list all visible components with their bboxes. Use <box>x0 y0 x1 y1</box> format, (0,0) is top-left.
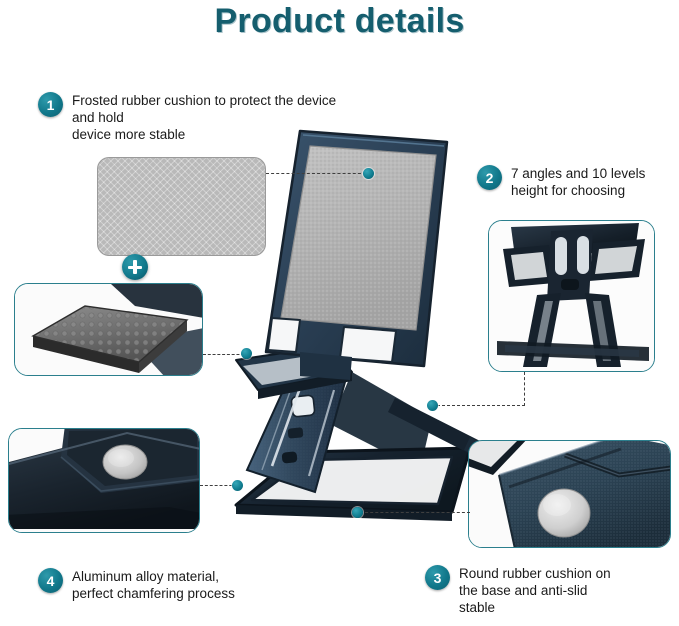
callout-3-text: Round rubber cushion on the base and ant… <box>459 565 611 616</box>
callout-4-badge: 4 <box>38 568 63 593</box>
anchor-dot-base-right <box>352 507 363 518</box>
anchor-dot-cushion-panel <box>363 168 374 179</box>
inset-frosted-texture-swatch <box>97 157 266 256</box>
connector-hinge-horizontal <box>432 405 525 406</box>
connector-texture-to-product <box>266 173 366 174</box>
callout-2: 2 7 angles and 10 levels height for choo… <box>477 165 662 199</box>
infographic-canvas: Product details <box>0 0 679 626</box>
inset-rubber-cushion-pad <box>14 283 203 376</box>
callout-3: 3 Round rubber cushion on the base and a… <box>425 565 640 616</box>
anchor-dot-base-left <box>232 480 243 491</box>
inset-base-round-cushion-closeup <box>468 440 671 548</box>
connector-base-right <box>360 512 470 513</box>
callout-3-badge: 3 <box>425 565 450 590</box>
callout-2-badge: 2 <box>477 165 502 190</box>
connector-hinge-vertical <box>524 372 525 406</box>
inset-base-chamfer-closeup <box>8 428 200 533</box>
callout-2-text: 7 angles and 10 levels height for choosi… <box>511 165 645 199</box>
anchor-dot-tray-lip <box>241 348 252 359</box>
callout-4: 4 Aluminum alloy material, perfect chamf… <box>38 568 288 602</box>
plus-icon <box>122 254 148 280</box>
callout-1: 1 Frosted rubber cushion to protect the … <box>38 92 358 143</box>
callout-1-text: Frosted rubber cushion to protect the de… <box>72 92 358 143</box>
callout-1-badge: 1 <box>38 92 63 117</box>
anchor-dot-hinge <box>427 400 438 411</box>
callout-4-text: Aluminum alloy material, perfect chamfer… <box>72 568 235 602</box>
inset-hinge-mechanism <box>488 220 655 372</box>
